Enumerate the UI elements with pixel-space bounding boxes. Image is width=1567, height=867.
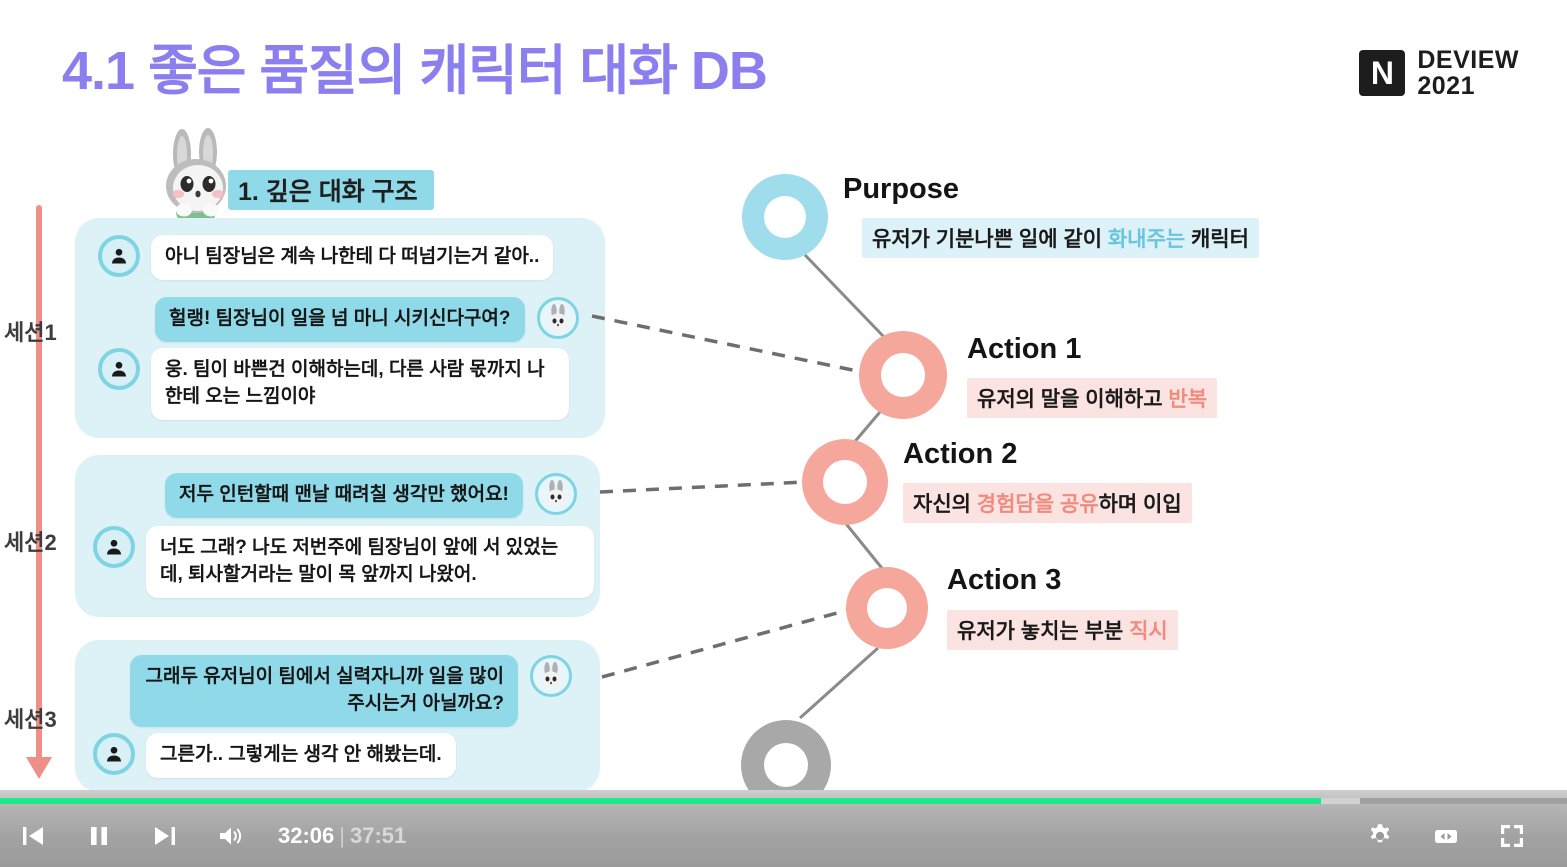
node-desc-action2-highlight: 경험담을 공유 <box>977 493 1099 516</box>
graph-node-action2 <box>802 439 888 525</box>
chat-message: 아니 팀장님은 계속 나한테 다 떠넘기는거 같아.. <box>98 235 553 280</box>
node-desc-purpose: 유저가 기분나쁜 일에 같이 화내주는 캐릭터 <box>862 218 1259 258</box>
chat-bubble-bot: 헐랭! 팀장님이 일을 넘 마니 시키신다구여? <box>155 297 525 342</box>
chat-bubble-bot: 저두 인턴할때 맨날 때려칠 생각만 했어요! <box>165 473 523 518</box>
chat-message: 너도 그래? 나도 저번주에 팀장님이 앞에 서 있었는데, 퇴사할거라는 말이… <box>93 526 594 598</box>
node-desc-action1: 유저의 말을 이해하고 반복 <box>967 378 1217 418</box>
chat-bubble-user: 너도 그래? 나도 저번주에 팀장님이 앞에 서 있었는데, 퇴사할거라는 말이… <box>146 526 594 598</box>
deview-logo-line2: 2021 <box>1417 73 1519 99</box>
fullscreen-button[interactable] <box>1479 804 1545 867</box>
session-timeline-arrow-icon <box>26 757 52 779</box>
rabbit-avatar-icon <box>535 473 577 515</box>
presentation-slide: 4.1 좋은 품질의 캐릭터 대화 DB N DEVIEW 2021 세션1 세… <box>0 0 1567 800</box>
node-desc-action2-prefix: 자신의 <box>913 493 977 516</box>
user-avatar-icon <box>93 526 135 568</box>
chat-message: 헐랭! 팀장님이 일을 넘 마니 시키신다구여? <box>155 297 579 342</box>
session-label-3: 세션3 <box>4 702 57 734</box>
deview-logo-text: DEVIEW 2021 <box>1417 47 1519 99</box>
node-desc-action3-prefix: 유저가 놓치는 부분 <box>957 620 1129 643</box>
graph-node-action4 <box>741 720 831 800</box>
node-title-purpose: Purpose <box>843 173 959 206</box>
node-desc-purpose-highlight: 화내주는 <box>1108 228 1185 251</box>
chat-bubble-user: 그른가.. 그렇게는 생각 안 해봤는데. <box>146 733 456 778</box>
settings-button[interactable] <box>1347 804 1413 867</box>
time-separator: | <box>339 823 345 848</box>
node-title-action3: Action 3 <box>947 564 1061 597</box>
pause-button[interactable] <box>66 804 132 867</box>
rabbit-mascot-icon <box>156 124 238 224</box>
deview-logo: N DEVIEW 2021 <box>1359 47 1519 99</box>
user-avatar-icon <box>93 733 135 775</box>
user-avatar-icon <box>98 235 140 277</box>
rabbit-avatar-icon <box>537 297 579 339</box>
node-title-action2: Action 2 <box>903 438 1017 471</box>
session-label-1: 세션1 <box>4 315 57 347</box>
node-desc-action3: 유저가 놓치는 부분 직시 <box>947 610 1178 650</box>
graph-node-action3 <box>846 567 928 649</box>
node-desc-purpose-prefix: 유저가 기분나쁜 일에 같이 <box>872 228 1108 251</box>
volume-button[interactable] <box>198 804 264 867</box>
video-player-controls: 32:06|37:51 <box>0 790 1567 867</box>
slide-title: 4.1 좋은 품질의 캐릭터 대화 DB <box>62 44 767 98</box>
previous-button[interactable] <box>0 804 66 867</box>
chat-message: 그래두 유저님이 팀에서 실력자니까 일을 많이 주시는거 아닐까요? <box>130 655 572 727</box>
user-avatar-icon <box>98 348 140 390</box>
section-heading: 1. 깊은 대화 구조 <box>228 170 434 210</box>
node-desc-purpose-suffix: 캐릭터 <box>1185 228 1249 251</box>
chat-message: 저두 인턴할때 맨날 때려칠 생각만 했어요! <box>165 473 577 518</box>
node-desc-action2-suffix: 하며 이입 <box>1099 493 1182 516</box>
chat-bubble-bot: 그래두 유저님이 팀에서 실력자니까 일을 많이 주시는거 아닐까요? <box>130 655 518 727</box>
total-time: 37:51 <box>350 823 406 848</box>
graph-node-purpose <box>742 174 828 260</box>
miniplayer-button[interactable] <box>1413 804 1479 867</box>
current-time: 32:06 <box>278 823 334 848</box>
node-desc-action2: 자신의 경험담을 공유하며 이입 <box>903 483 1192 523</box>
session-label-2: 세션2 <box>4 525 57 557</box>
node-desc-action1-highlight: 반복 <box>1168 388 1207 411</box>
video-player-screen: 4.1 좋은 품질의 캐릭터 대화 DB N DEVIEW 2021 세션1 세… <box>0 0 1567 867</box>
chat-message: 웅. 팀이 바쁜건 이해하는데, 다른 사람 몫까지 나한테 오는 느낌이야 <box>98 348 569 420</box>
chat-message: 그른가.. 그렇게는 생각 안 해봤는데. <box>93 733 456 778</box>
chat-bubble-user: 아니 팀장님은 계속 나한테 다 떠넘기는거 같아.. <box>151 235 553 280</box>
chat-bubble-user: 웅. 팀이 바쁜건 이해하는데, 다른 사람 몫까지 나한테 오는 느낌이야 <box>151 348 569 420</box>
deview-logo-line1: DEVIEW <box>1417 47 1519 73</box>
rabbit-avatar-icon <box>530 655 572 697</box>
node-desc-action1-prefix: 유저의 말을 이해하고 <box>977 388 1168 411</box>
naver-n-icon: N <box>1359 50 1405 96</box>
graph-node-action1 <box>859 331 947 419</box>
time-display: 32:06|37:51 <box>278 823 406 849</box>
session-timeline-rail <box>36 205 42 765</box>
next-button[interactable] <box>132 804 198 867</box>
node-desc-action3-highlight: 직시 <box>1129 620 1168 643</box>
node-title-action1: Action 1 <box>967 333 1081 366</box>
